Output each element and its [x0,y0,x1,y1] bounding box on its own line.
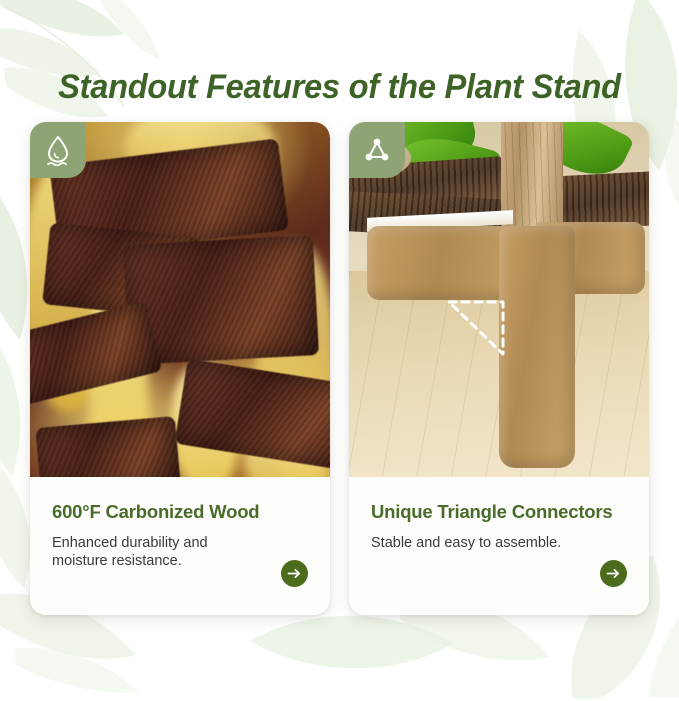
triangle-nodes-icon [362,135,392,165]
card-title: Unique Triangle Connectors [371,501,627,523]
arrow-right-icon [606,567,621,580]
feature-card-carbonized-wood[interactable]: 600°F Carbonized Wood Enhanced durabilit… [30,122,330,615]
water-drop-icon [43,134,73,166]
card-body: 600°F Carbonized Wood Enhanced durabilit… [30,477,330,615]
card-arrow-button[interactable] [281,560,308,587]
card-body: Unique Triangle Connectors Stable and ea… [349,477,649,615]
badge-water-drop [30,122,86,178]
card-arrow-button[interactable] [600,560,627,587]
arrow-right-icon [287,567,302,580]
card-photo-carbonized-wood [30,122,330,477]
dashed-triangle-annotation [445,298,515,360]
card-description: Enhanced durability and moisture resista… [52,534,262,570]
page-title: Standout Features of the Plant Stand [14,67,666,107]
card-photo-triangle-connector [349,122,649,477]
badge-triangle-nodes [349,122,405,178]
card-title: 600°F Carbonized Wood [52,501,308,523]
feature-cards-container: 600°F Carbonized Wood Enhanced durabilit… [30,122,649,615]
feature-card-triangle-connectors[interactable]: Unique Triangle Connectors Stable and ea… [349,122,649,615]
card-description: Stable and easy to assemble. [371,534,581,552]
